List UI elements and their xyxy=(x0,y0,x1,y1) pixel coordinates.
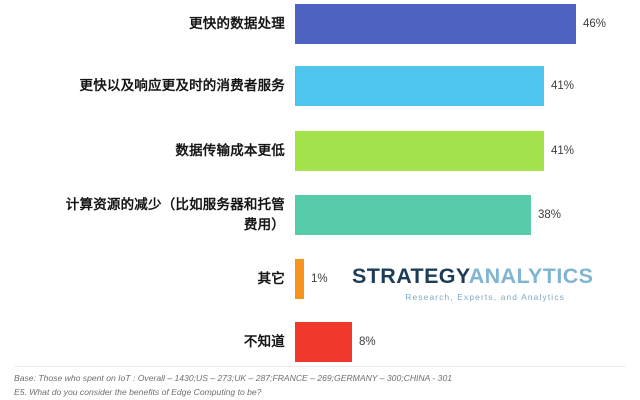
strategy-analytics-logo: STRATEGYANALYTICS Research, Experts, and… xyxy=(352,266,567,302)
bar-track: 38% xyxy=(295,193,640,237)
bar-segment xyxy=(295,322,352,362)
bar-chart: 更快的数据处理 46% 更快以及响应更及时的消费者服务 41% 数据传输成本更低… xyxy=(0,0,640,360)
logo-wordmark: STRATEGYANALYTICS xyxy=(352,266,567,288)
bar-value-label: 41% xyxy=(551,145,574,157)
bar-value-label: 41% xyxy=(551,80,574,92)
bar-segment xyxy=(295,195,531,235)
footnote-base: Base: Those who spent on IoT : Overall –… xyxy=(14,372,629,386)
category-label: 计算资源的减少（比如服务器和托管 费用） xyxy=(0,195,295,234)
bar-value-label: 46% xyxy=(583,18,606,30)
bar-row: 数据传输成本更低 41% xyxy=(0,129,640,173)
bar-value-label: 1% xyxy=(311,273,328,285)
bar-segment xyxy=(295,4,576,44)
bar-row: 不知道 8% xyxy=(0,320,640,364)
category-label: 其它 xyxy=(0,269,295,289)
category-label: 更快以及响应更及时的消费者服务 xyxy=(0,76,295,96)
bar-segment xyxy=(295,66,544,106)
logo-word-analytics: ANALYTICS xyxy=(469,264,594,288)
bar-value-label: 8% xyxy=(359,336,376,348)
footnote-question: E5. What do you consider the benefits of… xyxy=(14,386,629,400)
logo-tagline: Research, Experts, and Analytics xyxy=(352,292,567,302)
category-label: 不知道 xyxy=(0,332,295,352)
footer-divider xyxy=(14,366,626,367)
bar-value-label: 38% xyxy=(538,209,561,221)
bar-row: 更快的数据处理 46% xyxy=(0,2,640,46)
bar-track: 41% xyxy=(295,64,640,108)
footnotes: Base: Those who spent on IoT : Overall –… xyxy=(14,372,629,400)
logo-word-strategy: STRATEGY xyxy=(352,264,469,288)
bar-segment xyxy=(295,259,304,299)
bar-segment xyxy=(295,131,544,171)
bar-track: 46% xyxy=(295,2,640,46)
category-label: 数据传输成本更低 xyxy=(0,141,295,161)
bar-row: 计算资源的减少（比如服务器和托管 费用） 38% xyxy=(0,193,640,237)
category-label: 更快的数据处理 xyxy=(0,14,295,34)
bar-track: 8% xyxy=(295,320,640,364)
bar-row: 更快以及响应更及时的消费者服务 41% xyxy=(0,64,640,108)
bar-track: 41% xyxy=(295,129,640,173)
